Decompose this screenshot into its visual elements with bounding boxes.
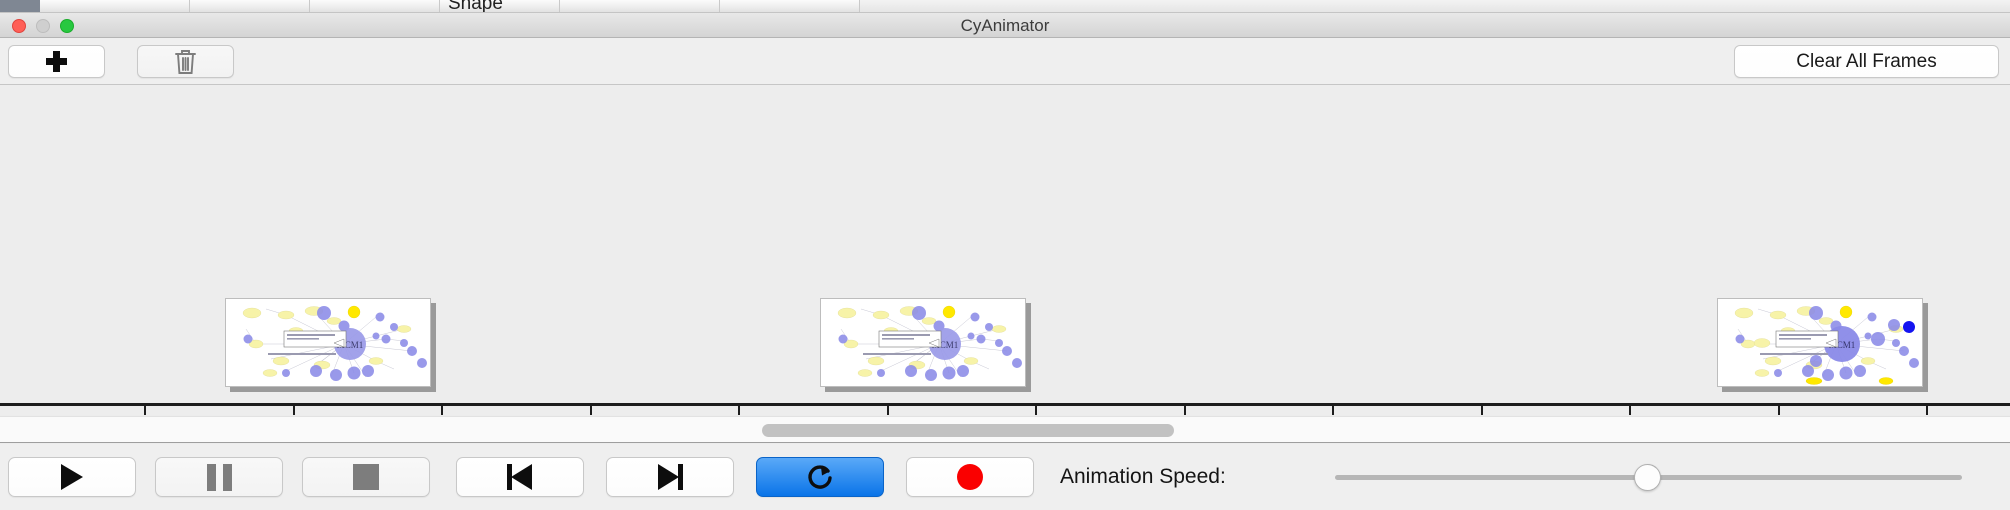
play-button[interactable] (8, 457, 136, 497)
skip-end-icon (657, 464, 683, 490)
cyanimator-window: Shape CyAnimator Clear All Frames (0, 0, 2010, 510)
timeline-axis-line (0, 403, 2010, 406)
axis-tick-major (887, 406, 889, 415)
title-bar: CyAnimator (0, 13, 2010, 38)
stop-button[interactable] (302, 457, 430, 497)
axis-tick-minor (1926, 406, 1928, 415)
timeline-canvas[interactable]: MCM1 (0, 85, 2010, 415)
axis-tick-major (1184, 406, 1186, 415)
plus-icon (46, 51, 67, 72)
clear-all-frames-label: Clear All Frames (1796, 51, 1936, 73)
toolbar: Clear All Frames (0, 38, 2010, 85)
pause-button[interactable] (155, 457, 283, 497)
axis-tick-major (293, 406, 295, 415)
axis-tick-minor (144, 406, 146, 415)
axis-tick-major (1481, 406, 1483, 415)
play-icon (61, 464, 83, 490)
skip-end-button[interactable] (606, 457, 734, 497)
window-title: CyAnimator (0, 13, 2010, 38)
axis-tick-minor (1035, 406, 1037, 415)
stop-icon (353, 464, 379, 490)
axis-tick-minor (441, 406, 443, 415)
axis-tick-minor (1332, 406, 1334, 415)
timeline-frame-thumbnail[interactable]: MCM1 (1717, 298, 1927, 390)
add-frame-button[interactable] (8, 45, 105, 78)
axis-tick-major (1778, 406, 1780, 415)
axis-tick-minor (738, 406, 740, 415)
timeline-scrollbar[interactable] (0, 416, 2010, 443)
frame-network-image: MCM1 (225, 298, 431, 387)
skip-start-button[interactable] (456, 457, 584, 497)
loop-button[interactable] (756, 457, 884, 497)
trash-icon (174, 48, 197, 75)
pause-icon (207, 464, 232, 491)
skip-start-icon (507, 464, 533, 490)
timeline-frame-thumbnail[interactable]: MCM1 (820, 298, 1030, 390)
scrollbar-thumb[interactable] (762, 424, 1174, 437)
frame-network-image: MCM1 (1717, 298, 1923, 387)
animation-speed-slider-thumb[interactable] (1634, 464, 1661, 491)
clear-all-frames-button[interactable]: Clear All Frames (1734, 45, 1999, 78)
loop-icon (805, 462, 835, 492)
frame-network-image: MCM1 (820, 298, 1026, 387)
axis-tick-minor (1629, 406, 1631, 415)
axis-tick-major (590, 406, 592, 415)
record-button[interactable] (906, 457, 1034, 497)
delete-frame-button[interactable] (137, 45, 234, 78)
timeline-frame-thumbnail[interactable]: MCM1 (225, 298, 435, 390)
animation-speed-label: Animation Speed: (1060, 457, 1226, 497)
playback-toolbar: Animation Speed: (0, 444, 2010, 510)
record-icon (957, 464, 983, 490)
